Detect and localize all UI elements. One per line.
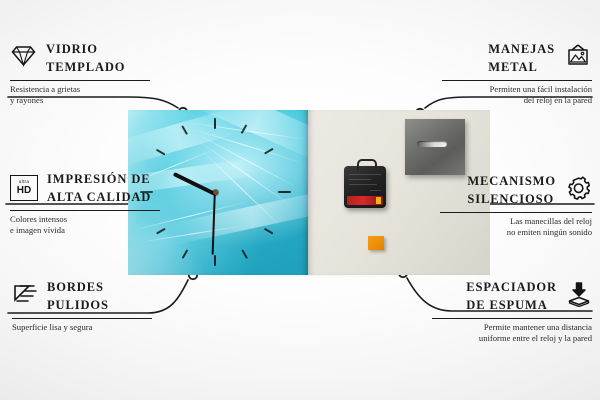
infographic-canvas: VIDRIO TEMPLADO Resistencia a grietas y …	[0, 0, 600, 400]
battery-terminal	[376, 197, 381, 204]
feature-title-espaciador: ESPACIADOR DE ESPUMA	[466, 278, 557, 314]
polished-edges-icon	[12, 283, 38, 310]
clock-mechanism-box	[344, 166, 386, 208]
desc-line2: e imagen vívida	[10, 225, 65, 235]
desc-line2: uniforme entre el reloj y la pared	[479, 333, 592, 343]
title-line1: ESPACIADOR	[466, 280, 557, 294]
picture-frame-icon	[564, 43, 592, 74]
feature-title-mecanismo: MECANISMO SILENCIOSO	[467, 172, 556, 208]
desc-line2: del reloj en la pared	[524, 95, 592, 105]
title-line2: ALTA CALIDAD	[47, 190, 151, 204]
feature-espaciador-espuma[interactable]: ESPACIADOR DE ESPUMA Permite mantener un…	[432, 278, 592, 343]
title-line1: MECANISMO	[467, 174, 556, 188]
title-line2: METAL	[488, 60, 537, 74]
title-line1: MANEJAS	[488, 42, 555, 56]
gear-icon	[565, 175, 592, 206]
feature-desc-espaciador: Permite mantener una distancia uniforme …	[432, 322, 592, 343]
clock-battery	[347, 196, 383, 205]
feature-vidrio-templado[interactable]: VIDRIO TEMPLADO Resistencia a grietas y …	[10, 40, 150, 105]
title-line1: IMPRESIÓN DE	[47, 172, 151, 186]
divider-rule	[442, 80, 592, 81]
mechanism-hang-loop	[357, 159, 377, 170]
desc-line2: y rayones	[10, 95, 43, 105]
product-image	[128, 110, 490, 275]
hanger-slot	[417, 141, 447, 147]
feature-title-vidrio-templado: VIDRIO TEMPLADO	[46, 40, 125, 76]
desc-line1: Colores intensos	[10, 214, 67, 224]
desc-line1: Resistencia a grietas	[10, 84, 80, 94]
desc-line1: Permiten una fácil instalación	[490, 84, 592, 94]
desc-line2: no emiten ningún sonido	[507, 227, 592, 237]
foam-spacer-square	[368, 236, 384, 250]
desc-line1: Las manecillas del reloj	[510, 216, 592, 226]
feature-desc-impresion: Colores intensos e imagen vívida	[10, 214, 160, 235]
title-line2: PULIDOS	[47, 298, 109, 312]
diamond-icon	[10, 44, 37, 73]
title-line1: VIDRIO	[46, 42, 98, 56]
title-line1: BORDES	[47, 280, 104, 294]
divider-rule	[10, 210, 160, 211]
divider-rule	[12, 318, 152, 319]
title-line2: DE ESPUMA	[466, 298, 547, 312]
divider-rule	[10, 80, 150, 81]
feature-title-bordes: BORDES PULIDOS	[47, 278, 109, 314]
feature-bordes-pulidos[interactable]: BORDES PULIDOS Superficie lisa y segura	[12, 278, 152, 333]
ultra-hd-icon: ultra HD	[10, 175, 38, 201]
desc-line1: Permite mantener una distancia	[484, 322, 592, 332]
feature-title-impresion: IMPRESIÓN DE ALTA CALIDAD	[47, 170, 151, 206]
title-line2: SILENCIOSO	[467, 192, 554, 206]
foam-spacer-icon	[566, 281, 592, 312]
metal-hanger-plate	[405, 119, 465, 175]
divider-rule	[432, 318, 592, 319]
clock-center-pin	[213, 190, 218, 195]
feature-title-manejas: MANEJAS METAL	[488, 40, 555, 76]
divider-rule	[440, 212, 592, 213]
feature-manejas-metal[interactable]: MANEJAS METAL Permiten una fácil instala…	[442, 40, 592, 105]
title-line2: TEMPLADO	[46, 60, 125, 74]
feature-desc-vidrio-templado: Resistencia a grietas y rayones	[10, 84, 150, 105]
feature-desc-manejas: Permiten una fácil instalación del reloj…	[442, 84, 592, 105]
feature-mecanismo-silencioso[interactable]: MECANISMO SILENCIOSO Las manecillas del …	[440, 172, 592, 237]
desc-line1: Superficie lisa y segura	[12, 322, 92, 332]
feature-desc-bordes: Superficie lisa y segura	[12, 322, 152, 332]
feature-desc-mecanismo: Las manecillas del reloj no emiten ningú…	[440, 216, 592, 237]
feature-impresion-alta-calidad[interactable]: ultra HD IMPRESIÓN DE ALTA CALIDAD Color…	[10, 170, 160, 235]
ultra-hd-large-text: HD	[17, 186, 31, 196]
